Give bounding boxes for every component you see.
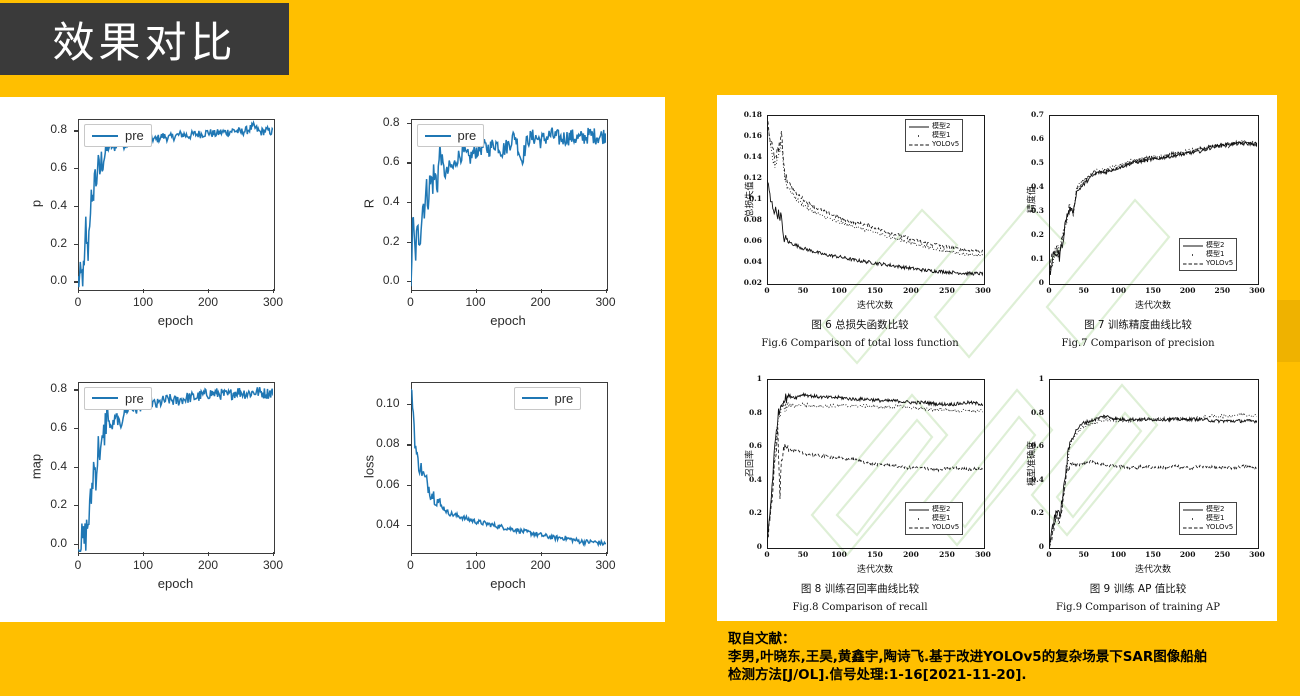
x-tick-label: 100 <box>1102 550 1134 559</box>
x-tick-label: 150 <box>859 550 891 559</box>
x-tick-mark <box>411 552 412 556</box>
x-tick-label: 100 <box>823 550 855 559</box>
citation-line-1: 李男,叶晓东,王昊,黄鑫宇,陶诗飞.基于改进YOLOv5的复杂场景下SAR图像船… <box>728 648 1288 666</box>
y-tick-label: 0.06 <box>723 236 762 245</box>
x-tick-label: 200 <box>1172 550 1204 559</box>
x-tick-label: 200 <box>1172 286 1204 295</box>
legend-dashed-swatch <box>909 524 929 531</box>
legend-fig9-ap[interactable]: 模型2模型1YOLOv5 <box>1179 502 1237 535</box>
x-tick-label: 150 <box>1137 550 1169 559</box>
x-tick-label: 50 <box>787 286 819 295</box>
x-tick-label: 0 <box>56 558 100 572</box>
y-tick-mark <box>74 206 78 207</box>
y-tick-label: 0.8 <box>333 115 400 129</box>
y-tick-label: 0.1 <box>1005 254 1044 263</box>
legend-label: 模型1 <box>932 131 950 140</box>
x-tick-label: 200 <box>186 295 230 309</box>
x-tick-mark <box>273 289 274 293</box>
y-tick-label: 0.18 <box>723 110 762 119</box>
x-tick-label: 300 <box>584 295 628 309</box>
x-tick-label: 100 <box>121 295 165 309</box>
mpl-chart-grid: 0.00.20.40.60.80100200300epochppre0.00.2… <box>0 97 665 622</box>
x-tick-label: 300 <box>251 558 295 572</box>
y-tick-mark <box>407 242 411 243</box>
y-tick-mark <box>74 281 78 282</box>
x-axis-label: 迭代次数 <box>1049 562 1257 575</box>
legend-label: pre <box>125 128 144 143</box>
x-tick-label: 300 <box>1241 286 1273 295</box>
figure-fig9-ap: 00.20.40.60.81050100150200250300迭代次数模型准确… <box>1005 367 1271 617</box>
x-tick-label: 0 <box>751 550 783 559</box>
legend-dotted-swatch <box>909 515 929 522</box>
page-title: 效果对比 <box>52 9 236 70</box>
right-figure-panel: 0.020.040.060.080.10.120.140.160.1805010… <box>717 95 1277 621</box>
x-tick-mark <box>606 552 607 556</box>
x-tick-label: 50 <box>1068 550 1100 559</box>
figure-caption-cn: 图 9 训练 AP 值比较 <box>1005 581 1271 596</box>
y-tick-mark <box>407 485 411 486</box>
legend-solid-swatch <box>909 123 929 130</box>
legend-dotted-swatch <box>909 132 929 139</box>
citation-block: 取自文献： 李男,叶晓东,王昊,黄鑫宇,陶诗飞.基于改进YOLOv5的复杂场景下… <box>728 630 1288 684</box>
legend-line-swatch <box>92 135 118 137</box>
y-tick-mark <box>407 281 411 282</box>
y-axis-label: 召回率 <box>743 434 756 494</box>
legend-fig7-precision[interactable]: 模型2模型1YOLOv5 <box>1179 238 1237 271</box>
legend-loss[interactable]: pre <box>514 387 582 410</box>
legend-dashed-swatch <box>909 141 929 148</box>
y-tick-mark <box>74 244 78 245</box>
x-axis-label: 迭代次数 <box>767 298 983 311</box>
y-tick-mark <box>74 544 78 545</box>
y-axis-label: p <box>29 174 44 234</box>
figure-fig6-total-loss: 0.020.040.060.080.10.120.140.160.1805010… <box>723 103 997 361</box>
legend-row: 模型1 <box>909 131 959 140</box>
y-tick-label: 1 <box>1005 374 1044 383</box>
y-tick-mark <box>74 428 78 429</box>
x-tick-label: 100 <box>121 558 165 572</box>
y-tick-label: 1 <box>723 374 762 383</box>
x-tick-label: 250 <box>1206 550 1238 559</box>
y-tick-label: 0.2 <box>1005 230 1044 239</box>
y-tick-label: 0.6 <box>0 420 67 434</box>
x-tick-mark <box>411 289 412 293</box>
y-tick-mark <box>74 505 78 506</box>
x-tick-label: 300 <box>967 286 999 295</box>
x-tick-mark <box>541 552 542 556</box>
figure-caption-cn: 图 6 总损失函数比较 <box>723 317 997 332</box>
figure-fig7-precision: 00.10.20.30.40.50.60.7050100150200250300… <box>1005 103 1271 361</box>
x-tick-mark <box>208 289 209 293</box>
x-axis-label: epoch <box>78 313 273 328</box>
legend-row: YOLOv5 <box>909 523 959 532</box>
x-tick-mark <box>78 552 79 556</box>
legend-line-swatch <box>92 397 118 399</box>
legend-label: YOLOv5 <box>932 523 959 532</box>
y-tick-mark <box>407 123 411 124</box>
y-tick-label: 0.0 <box>0 273 67 287</box>
x-tick-label: 50 <box>787 550 819 559</box>
legend-label: pre <box>458 128 477 143</box>
x-tick-label: 250 <box>931 286 963 295</box>
x-tick-label: 200 <box>519 558 563 572</box>
legend-row: 模型1 <box>1183 250 1233 259</box>
y-tick-mark <box>407 444 411 445</box>
x-tick-label: 250 <box>1206 286 1238 295</box>
legend-fig8-recall[interactable]: 模型2模型1YOLOv5 <box>905 502 963 535</box>
y-tick-label: 0.8 <box>0 381 67 395</box>
y-tick-label: 0.2 <box>0 497 67 511</box>
left-figure-panel: 0.00.20.40.60.80100200300epochppre0.00.2… <box>0 97 665 622</box>
y-tick-mark <box>407 404 411 405</box>
x-tick-label: 300 <box>967 550 999 559</box>
scrollbar-thumb[interactable] <box>1277 300 1300 362</box>
x-axis-label: 迭代次数 <box>767 562 983 575</box>
x-tick-label: 100 <box>823 286 855 295</box>
figure-caption-en: Fig.8 Comparison of recall <box>723 602 997 613</box>
legend-row: 模型1 <box>1183 514 1233 523</box>
y-tick-label: 0.5 <box>1005 158 1044 167</box>
x-axis-label: epoch <box>78 576 273 591</box>
x-tick-label: 200 <box>186 558 230 572</box>
y-tick-label: 0.7 <box>1005 110 1044 119</box>
y-tick-label: 0.04 <box>723 257 762 266</box>
x-tick-mark <box>606 289 607 293</box>
x-tick-label: 50 <box>1068 286 1100 295</box>
legend-dotted-swatch <box>1183 515 1203 522</box>
y-tick-label: 0.6 <box>1005 134 1044 143</box>
x-tick-label: 0 <box>389 558 433 572</box>
figure-fig8-recall: 00.20.40.60.81050100150200250300迭代次数召回率模… <box>723 367 997 617</box>
legend-map[interactable]: pre <box>84 387 152 410</box>
chart-loss: 0.040.060.080.100100200300epochlosspre <box>333 360 666 623</box>
legend-row: 模型1 <box>909 514 959 523</box>
figure-caption-en: Fig.6 Comparison of total loss function <box>723 338 997 349</box>
x-tick-mark <box>208 552 209 556</box>
x-tick-label: 200 <box>895 550 927 559</box>
legend-row: YOLOv5 <box>1183 259 1233 268</box>
x-tick-mark <box>273 552 274 556</box>
x-tick-mark <box>78 289 79 293</box>
x-tick-label: 200 <box>519 295 563 309</box>
legend-line-swatch <box>522 397 548 399</box>
x-tick-label: 100 <box>454 558 498 572</box>
x-tick-label: 250 <box>931 550 963 559</box>
y-axis-label: R <box>361 174 376 234</box>
chart-recall-R: 0.00.20.40.60.80100200300epochRpre <box>333 97 666 360</box>
chart-precision-p: 0.00.20.40.60.80100200300epochppre <box>0 97 333 360</box>
legend-label: 模型2 <box>932 505 950 514</box>
figure-caption-en: Fig.9 Comparison of training AP <box>1005 602 1271 613</box>
legend-label: 模型1 <box>932 514 950 523</box>
y-tick-mark <box>74 168 78 169</box>
legend-precision-p[interactable]: pre <box>84 124 152 147</box>
x-tick-label: 0 <box>56 295 100 309</box>
legend-label: 模型2 <box>1206 505 1224 514</box>
legend-dashed-swatch <box>1183 524 1203 531</box>
legend-label: 模型2 <box>932 122 950 131</box>
x-tick-mark <box>476 552 477 556</box>
legend-dotted-swatch <box>1183 251 1203 258</box>
y-tick-label: 0.2 <box>0 236 67 250</box>
y-tick-label: 0.8 <box>1005 408 1044 417</box>
legend-row: 模型2 <box>909 505 959 514</box>
y-tick-label: 0.04 <box>333 517 400 531</box>
y-tick-label: 0.8 <box>0 122 67 136</box>
y-tick-mark <box>74 130 78 131</box>
x-tick-label: 0 <box>389 295 433 309</box>
y-tick-label: 0.2 <box>1005 508 1044 517</box>
y-tick-label: 0.0 <box>0 536 67 550</box>
figure-caption-cn: 图 7 训练精度曲线比较 <box>1005 317 1271 332</box>
y-tick-label: 0.16 <box>723 131 762 140</box>
y-axis-label: map <box>29 436 44 496</box>
x-tick-label: 200 <box>895 286 927 295</box>
x-tick-mark <box>541 289 542 293</box>
x-tick-label: 100 <box>454 295 498 309</box>
y-tick-label: 0.8 <box>723 408 762 417</box>
citation-label: 取自文献： <box>728 630 1288 648</box>
x-tick-mark <box>143 289 144 293</box>
x-axis-label: 迭代次数 <box>1049 298 1257 311</box>
x-tick-mark <box>143 552 144 556</box>
legend-line-swatch <box>425 135 451 137</box>
legend-fig6-total-loss[interactable]: 模型2模型1YOLOv5 <box>905 119 963 152</box>
x-tick-label: 150 <box>859 286 891 295</box>
y-tick-mark <box>407 525 411 526</box>
legend-label: 模型2 <box>1206 241 1224 250</box>
legend-label: YOLOv5 <box>1206 523 1233 532</box>
y-tick-label: 0.2 <box>723 508 762 517</box>
x-tick-label: 100 <box>1102 286 1134 295</box>
y-tick-label: 0.14 <box>723 152 762 161</box>
y-tick-label: 0.0 <box>333 273 400 287</box>
x-tick-label: 300 <box>251 295 295 309</box>
legend-solid-swatch <box>1183 506 1203 513</box>
legend-label: pre <box>125 391 144 406</box>
y-axis-label: 精度值 <box>1025 170 1038 230</box>
y-axis-label: 总损失值 <box>743 170 756 230</box>
y-tick-label: 0.6 <box>333 154 400 168</box>
legend-row: 模型2 <box>1183 241 1233 250</box>
y-tick-mark <box>407 162 411 163</box>
x-tick-label: 300 <box>584 558 628 572</box>
legend-solid-swatch <box>909 506 929 513</box>
x-tick-label: 300 <box>1241 550 1273 559</box>
y-tick-mark <box>74 467 78 468</box>
legend-row: 模型2 <box>909 122 959 131</box>
x-axis-label: epoch <box>411 313 606 328</box>
y-axis-label: 模型准确度 <box>1025 434 1038 494</box>
y-tick-mark <box>407 202 411 203</box>
legend-row: YOLOv5 <box>1183 523 1233 532</box>
slide-title-box: 效果对比 <box>0 3 289 75</box>
y-axis-label: loss <box>361 436 376 496</box>
legend-label: pre <box>555 391 574 406</box>
legend-label: YOLOv5 <box>1206 259 1233 268</box>
y-tick-label: 0.6 <box>0 160 67 174</box>
figure-caption-cn: 图 8 训练召回率曲线比较 <box>723 581 997 596</box>
x-tick-label: 0 <box>751 286 783 295</box>
legend-label: 模型1 <box>1206 250 1224 259</box>
x-tick-label: 0 <box>1033 550 1065 559</box>
y-tick-label: 0.10 <box>333 396 400 410</box>
x-tick-label: 150 <box>1137 286 1169 295</box>
legend-row: YOLOv5 <box>909 140 959 149</box>
legend-label: YOLOv5 <box>932 140 959 149</box>
chart-map: 0.00.20.40.60.80100200300epochmappre <box>0 360 333 623</box>
figure-caption-en: Fig.7 Comparison of precision <box>1005 338 1271 349</box>
x-tick-label: 0 <box>1033 286 1065 295</box>
legend-dashed-swatch <box>1183 260 1203 267</box>
legend-row: 模型2 <box>1183 505 1233 514</box>
x-tick-mark <box>476 289 477 293</box>
legend-recall-R[interactable]: pre <box>417 124 485 147</box>
legend-label: 模型1 <box>1206 514 1224 523</box>
legend-solid-swatch <box>1183 242 1203 249</box>
citation-line-2: 检测方法[J/OL].信号处理:1-16[2021-11-20]. <box>728 666 1288 684</box>
x-axis-label: epoch <box>411 576 606 591</box>
y-tick-label: 0.2 <box>333 234 400 248</box>
y-tick-mark <box>74 389 78 390</box>
